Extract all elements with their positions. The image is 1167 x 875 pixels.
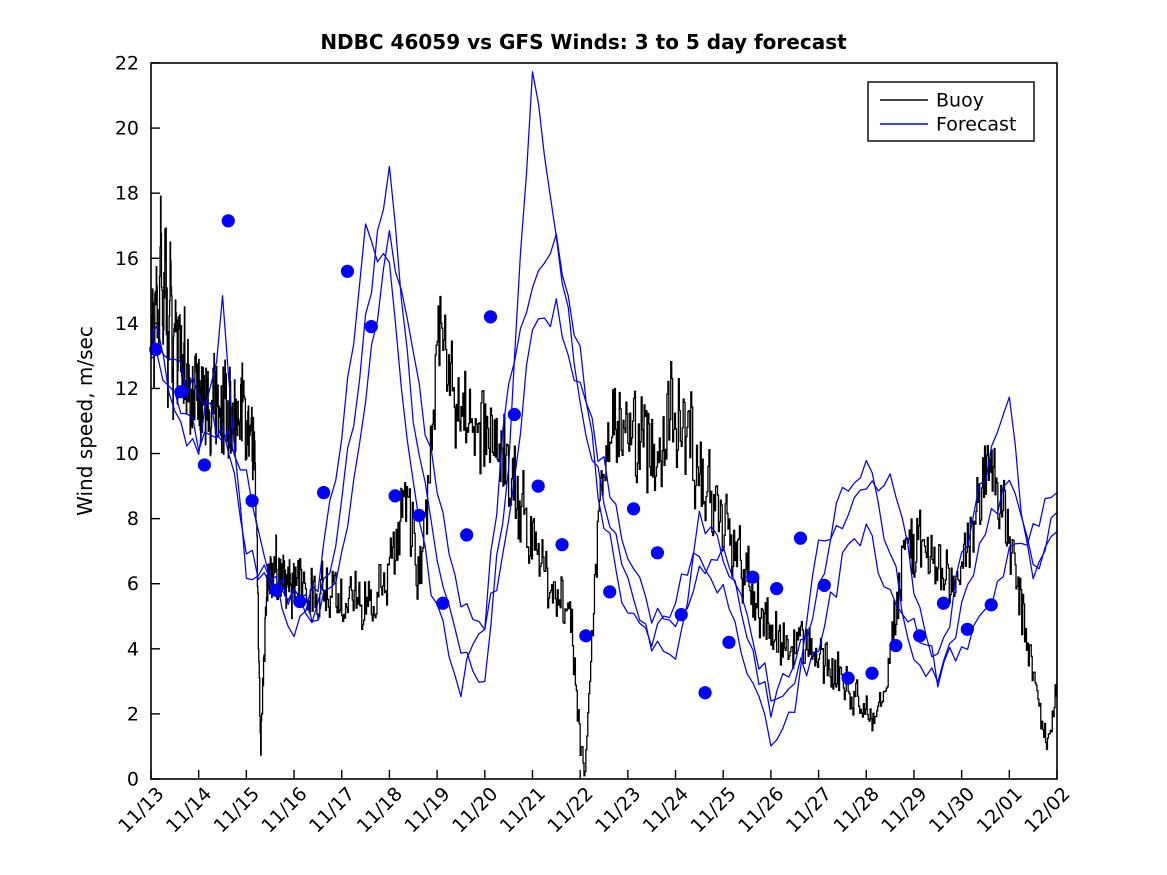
x-tick-label: 11/19 — [400, 783, 454, 837]
scatter-marker — [341, 265, 354, 278]
x-tick-label: 11/21 — [496, 783, 550, 837]
scatter-marker — [937, 597, 950, 610]
y-tick-label: 12 — [115, 378, 139, 400]
scatter-marker — [532, 479, 545, 492]
scatter-marker — [317, 486, 330, 499]
x-tick-label: 11/14 — [162, 783, 216, 837]
scatter-marker — [484, 310, 497, 323]
scatter-marker — [293, 595, 306, 608]
scatter-marker — [865, 667, 878, 680]
scatter-marker — [889, 639, 902, 652]
x-tick-label: 11/29 — [877, 783, 931, 837]
x-axis-ticks: 11/1311/1411/1511/1611/1711/1811/1911/20… — [114, 770, 1074, 837]
scatter-marker — [627, 502, 640, 515]
x-tick-label: 11/23 — [591, 783, 645, 837]
scatter-marker — [174, 385, 187, 398]
x-tick-label: 11/28 — [830, 783, 884, 837]
scatter-marker — [436, 597, 449, 610]
chart-plot-area: Wind speed, m/sec 0246810121416182022 11… — [0, 0, 1167, 875]
y-tick-label: 10 — [115, 443, 139, 465]
scatter-marker — [460, 528, 473, 541]
scatter-marker — [579, 629, 592, 642]
scatter-marker — [913, 629, 926, 642]
buoy-series-line — [151, 196, 1057, 776]
scatter-marker — [842, 672, 855, 685]
y-tick-label: 14 — [115, 313, 139, 335]
scatter-marker — [961, 623, 974, 636]
data-series-group — [151, 72, 1057, 776]
x-tick-label: 12/01 — [973, 783, 1027, 837]
legend-label-forecast: Forecast — [936, 114, 1016, 136]
scatter-marker — [770, 582, 783, 595]
series-clip-group — [151, 72, 1057, 776]
x-tick-label: 11/30 — [925, 783, 979, 837]
forecast-series-line — [151, 72, 1057, 717]
y-tick-label: 0 — [127, 769, 139, 791]
scatter-marker — [555, 538, 568, 551]
scatter-marker — [245, 494, 258, 507]
scatter-marker — [651, 546, 664, 559]
chart-figure: NDBC 46059 vs GFS Winds: 3 to 5 day fore… — [0, 0, 1167, 875]
y-tick-label: 22 — [115, 53, 139, 75]
scatter-marker — [746, 571, 759, 584]
y-axis-ticks: 0246810121416182022 — [115, 53, 160, 791]
x-tick-label: 11/18 — [353, 783, 407, 837]
scatter-marker — [508, 408, 521, 421]
y-axis-title: Wind speed, m/sec — [73, 326, 97, 516]
x-tick-label: 11/20 — [448, 783, 502, 837]
scatter-marker — [603, 585, 616, 598]
x-tick-label: 11/24 — [639, 783, 693, 837]
scatter-marker — [698, 686, 711, 699]
x-tick-label: 11/15 — [210, 783, 264, 837]
scatter-marker — [365, 320, 378, 333]
scatter-marker — [222, 214, 235, 227]
y-axis-title-text: Wind speed, m/sec — [73, 326, 97, 516]
scatter-marker — [198, 458, 211, 471]
x-tick-label: 11/27 — [782, 783, 836, 837]
scatter-marker — [675, 608, 688, 621]
y-tick-label: 8 — [127, 508, 139, 530]
x-tick-label: 11/25 — [686, 783, 740, 837]
scatter-markers-group — [149, 214, 998, 699]
legend-label-buoy: Buoy — [936, 90, 984, 112]
y-tick-label: 6 — [127, 573, 139, 595]
x-tick-label: 12/02 — [1020, 783, 1074, 837]
x-tick-label: 11/16 — [257, 783, 311, 837]
scatter-marker — [985, 598, 998, 611]
chart-legend[interactable]: Buoy Forecast — [868, 82, 1034, 141]
scatter-marker — [818, 579, 831, 592]
y-tick-label: 18 — [115, 183, 139, 205]
x-tick-label: 11/13 — [114, 783, 168, 837]
scatter-marker — [722, 636, 735, 649]
scatter-marker — [412, 509, 425, 522]
y-tick-label: 2 — [127, 703, 139, 725]
x-tick-label: 11/22 — [543, 783, 597, 837]
y-tick-label: 4 — [127, 638, 139, 660]
plot-frame — [151, 63, 1057, 779]
scatter-marker — [269, 584, 282, 597]
x-tick-label: 11/26 — [734, 783, 788, 837]
y-tick-label: 20 — [115, 118, 139, 140]
y-tick-label: 16 — [115, 248, 139, 270]
scatter-marker — [389, 489, 402, 502]
scatter-marker — [794, 532, 807, 545]
x-tick-label: 11/17 — [305, 783, 359, 837]
